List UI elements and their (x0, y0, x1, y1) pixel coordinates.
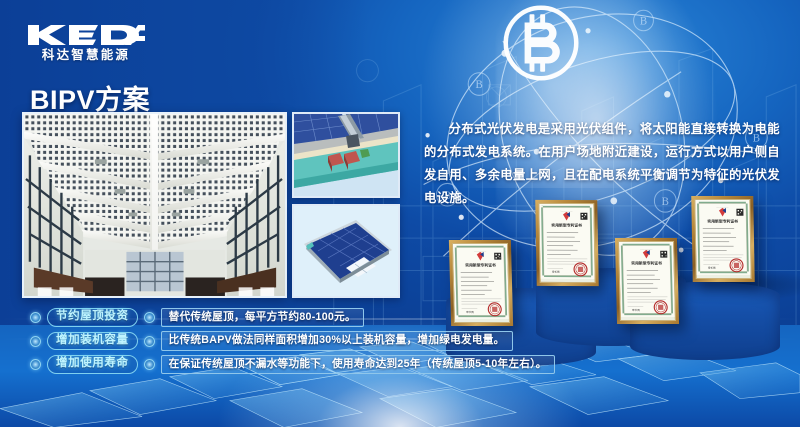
svg-text:实用新型专利证书: 实用新型专利证书 (465, 263, 496, 268)
svg-text:实用新型专利证书: 实用新型专利证书 (551, 223, 582, 228)
svg-text:实用新型专利证书: 实用新型专利证书 (631, 261, 662, 266)
certificate-card[interactable]: ~~~~~~~~~~ 实用新型专利证书 申长雨 (535, 200, 599, 286)
svg-text:申长雨: 申长雨 (552, 270, 560, 274)
atrium-bipv-roof-photo (22, 112, 287, 298)
benefits-list: 节约屋顶投资 替代传统屋顶，每平方节约80-100元。 增加装机容量 比传统BA… (30, 306, 450, 377)
benefit-row: 增加装机容量 比传统BAPV做法同样面积增加30%以上装机容量，增加绿电发电量。 (30, 330, 450, 353)
benefit-row: 节约屋顶投资 替代传统屋顶，每平方节约80-100元。 (30, 306, 450, 329)
certificate-content-icon: ~~~~~~~~~~ 实用新型专利证书 申长雨 (619, 242, 675, 317)
solar-panel-mounting-detail-diagram (292, 112, 400, 198)
certificate-content-icon: ~~~~~~~~~~ 实用新型专利证书 申长雨 (453, 244, 509, 319)
benefit-description: 替代传统屋顶，每平方节约80-100元。 (161, 308, 364, 328)
svg-text:申长雨: 申长雨 (466, 310, 474, 314)
svg-text:实用新型专利证书: 实用新型专利证书 (707, 219, 738, 224)
certificate-card[interactable]: ~~~~~~~~~~ 实用新型专利证书 申长雨 (449, 240, 513, 326)
brand-sublabel: 科达智慧能源 (27, 49, 145, 62)
poster-canvas: BB BB BB (0, 0, 800, 427)
certificate-content-icon: ~~~~~~~~~~ 实用新型专利证书 申长雨 (539, 204, 594, 279)
benefit-row: 增加使用寿命 在保证传统屋顶不漏水等功能下，使用寿命达到25年（传统屋顶5-10… (30, 353, 450, 376)
brand-logo[interactable]: 科达智慧能源 (27, 22, 145, 62)
certificate-card[interactable]: ~~~~~~~~~~ 实用新型专利证书 申长雨 (691, 196, 755, 282)
benefit-tag: 节约屋顶投资 (47, 308, 138, 327)
benefit-tag: 增加使用寿命 (47, 355, 138, 374)
bullet-dot-icon (30, 359, 41, 370)
bullet-dot-icon (144, 336, 155, 347)
benefit-tag: 增加装机容量 (47, 332, 138, 351)
benefit-description: 比传统BAPV做法同样面积增加30%以上装机容量，增加绿电发电量。 (161, 331, 513, 351)
bitcoin-logo-icon (500, 2, 582, 84)
keda-wordmark-icon (27, 22, 145, 48)
solar-panel-module-3d-diagram (292, 204, 400, 298)
certificate-content-icon: ~~~~~~~~~~ 实用新型专利证书 申长雨 (695, 200, 750, 275)
bullet-dot-icon (30, 312, 41, 323)
svg-text:申长雨: 申长雨 (632, 308, 640, 312)
benefit-description: 在保证传统屋顶不漏水等功能下，使用寿命达到25年（传统屋顶5-10年左右）。 (161, 355, 555, 375)
svg-text:申长雨: 申长雨 (708, 266, 716, 270)
bullet-dot-icon (144, 312, 155, 323)
certificate-card[interactable]: ~~~~~~~~~~ 实用新型专利证书 申长雨 (615, 238, 679, 324)
bullet-dot-icon (30, 336, 41, 347)
bullet-dot-icon (144, 359, 155, 370)
